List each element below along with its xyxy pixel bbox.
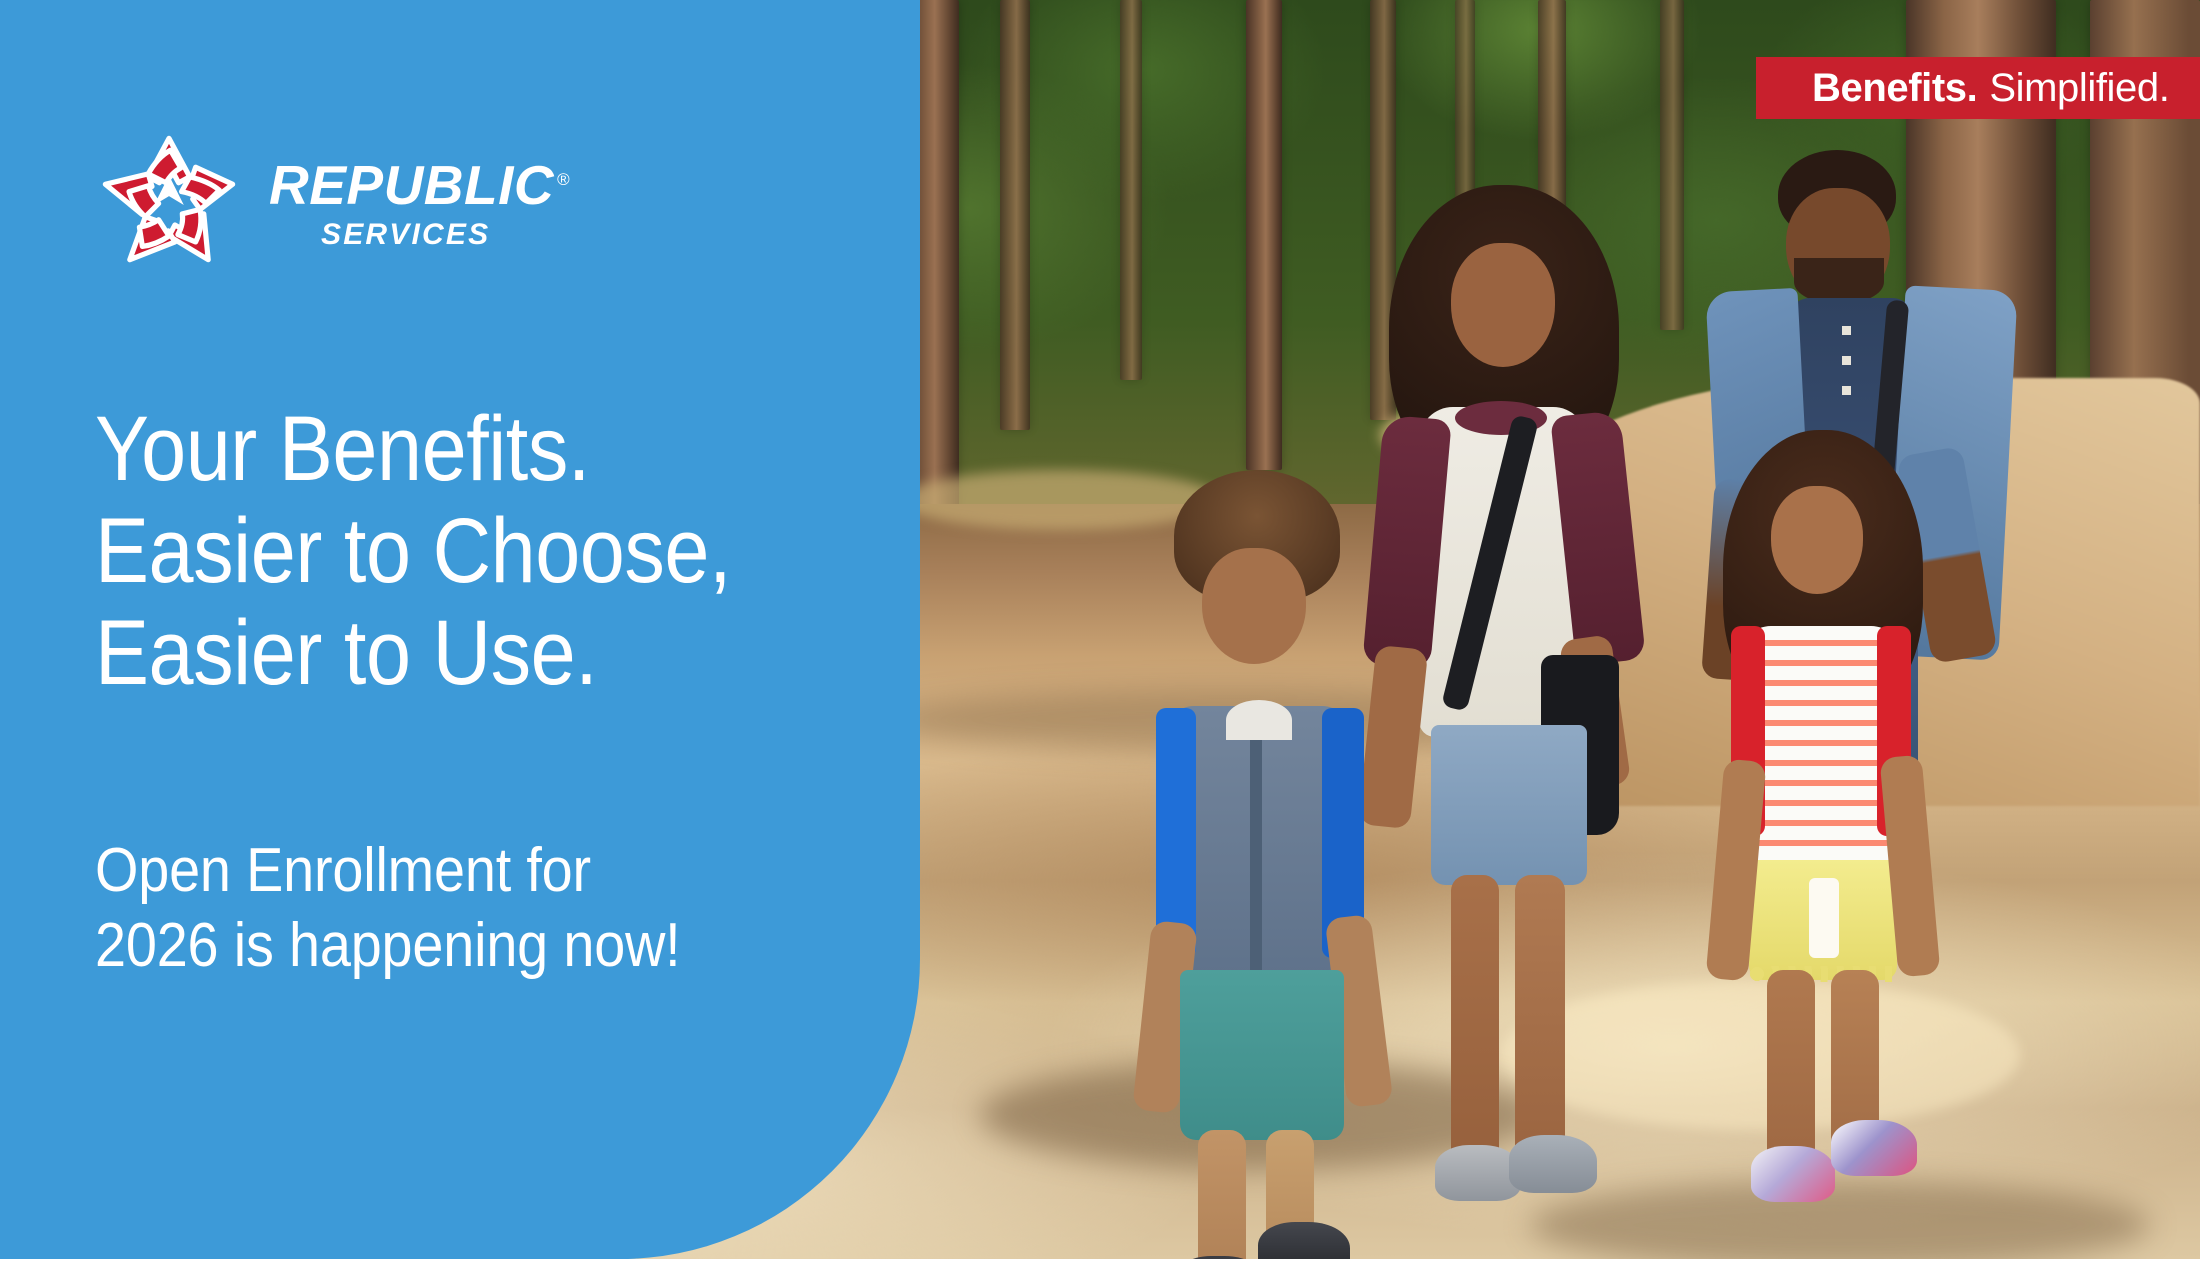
mother-leg-left — [1451, 875, 1499, 1175]
headline-line-3: Easier to Use. — [95, 602, 731, 704]
logo-word-services: SERVICES — [321, 220, 570, 250]
boy-leg-left — [1198, 1130, 1246, 1259]
benefits-banner: REPUBLIC® SERVICES Your Benefits. Easier… — [0, 0, 2200, 1267]
badge-light-text: Simplified. — [1989, 66, 2169, 111]
subtext: Open Enrollment for 2026 is happening no… — [95, 833, 681, 983]
logo-wordmark: REPUBLIC® SERVICES — [269, 154, 570, 250]
boy-face — [1202, 548, 1306, 664]
mother-sneaker-right — [1509, 1135, 1597, 1193]
father-henley-buttons — [1842, 326, 1851, 412]
person-boy — [1140, 470, 1400, 1259]
boy-shirt-placket — [1250, 720, 1262, 990]
headline: Your Benefits. Easier to Choose, Easier … — [95, 398, 731, 704]
daughter-shorts-drawstring — [1809, 878, 1839, 958]
mother-leg-right — [1515, 875, 1565, 1165]
subtext-line-1: Open Enrollment for — [95, 833, 681, 908]
subtext-line-2: 2026 is happening now! — [95, 908, 681, 983]
daughter-sneaker-left — [1751, 1146, 1835, 1202]
tree-trunk — [1120, 0, 1142, 380]
boy-sneaker-right — [1258, 1222, 1350, 1259]
mother-face — [1451, 243, 1555, 367]
boy-backpack-strap-left — [1156, 708, 1196, 958]
logo-word-republic: REPUBLIC® — [269, 158, 570, 213]
daughter-face — [1771, 486, 1863, 594]
boy-collar — [1226, 700, 1292, 740]
headline-line-1: Your Benefits. — [95, 398, 731, 500]
person-daughter — [1705, 430, 1955, 1220]
tree-trunk — [1660, 0, 1684, 330]
bottom-white-strip — [0, 1259, 2200, 1267]
republic-services-logo[interactable]: REPUBLIC® SERVICES — [95, 128, 570, 276]
badge-bold-text: Benefits. — [1812, 66, 1977, 111]
registered-trademark-icon: ® — [557, 170, 570, 189]
tree-trunk — [1246, 0, 1282, 470]
boy-teal-shorts — [1180, 970, 1344, 1140]
mother-denim-shorts — [1431, 725, 1587, 885]
republic-services-star-logo-icon — [95, 128, 243, 276]
tree-trunk — [1000, 0, 1030, 430]
headline-line-2: Easier to Choose, — [95, 500, 731, 602]
daughter-sneaker-right — [1831, 1120, 1917, 1176]
benefits-simplified-badge: Benefits. Simplified. — [1756, 57, 2200, 119]
